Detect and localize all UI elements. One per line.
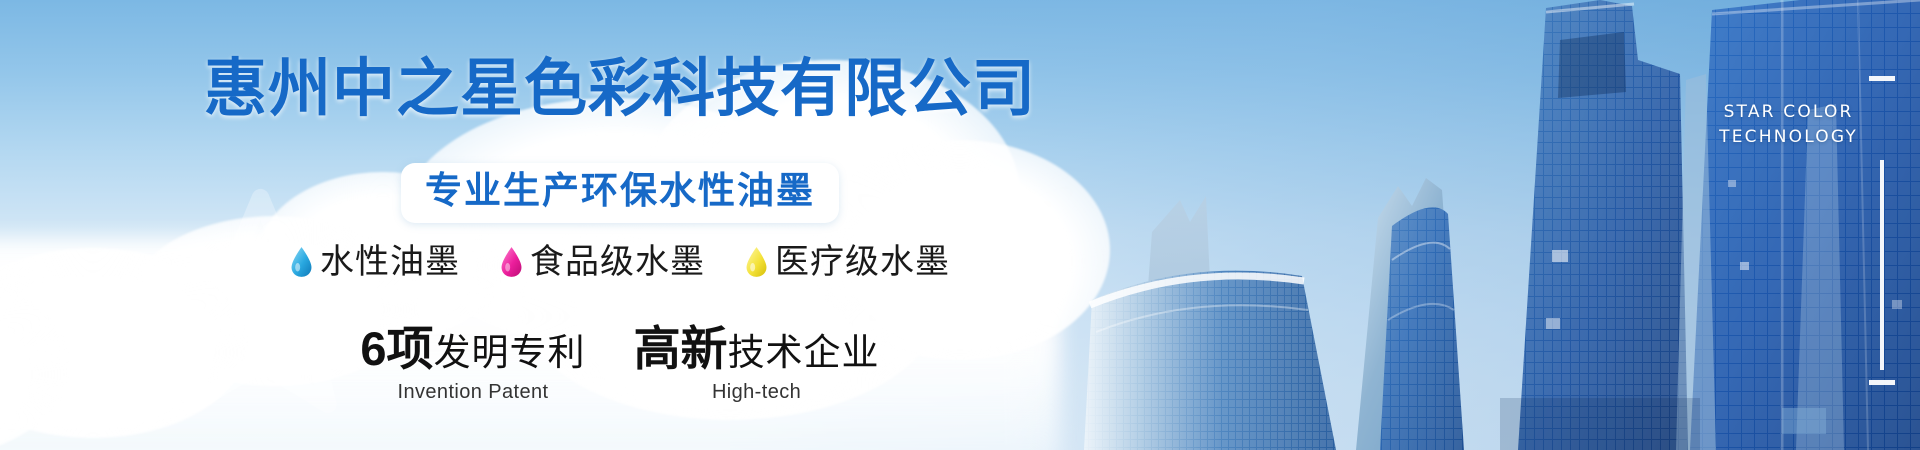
feature-item: 食品级水墨 <box>500 245 705 279</box>
feature-label: 医疗级水墨 <box>775 245 950 279</box>
brand-line-1: STAR COLOR <box>1719 100 1858 125</box>
corner-vertical-rule <box>1880 160 1884 370</box>
feature-list: 水性油墨 食品级水墨 <box>0 245 1240 279</box>
badge-chinese-text: 高新技术企业 <box>634 325 880 372</box>
water-drop-icon <box>290 246 313 278</box>
badge-rest-text: 发明专利 <box>434 334 586 371</box>
tagline-pill: 专业生产环保水性油墨 <box>401 163 839 223</box>
badge-strong-text: 6项 <box>360 325 433 372</box>
badge-english-text: High-tech <box>634 381 880 404</box>
badge-chinese-text: 6项发明专利 <box>360 325 585 372</box>
badge-strong-text: 高新 <box>634 325 728 372</box>
badge-rest-text: 技术企业 <box>728 334 880 371</box>
badge-english-text: Invention Patent <box>360 381 585 404</box>
brand-line-2: TECHNOLOGY <box>1719 125 1858 150</box>
corner-mark-top <box>1869 76 1895 81</box>
feature-label: 食品级水墨 <box>530 245 705 279</box>
feature-label: 水性油墨 <box>320 245 460 279</box>
promotional-banner: Star Color <box>0 0 1920 450</box>
tagline-pill-wrapper: 专业生产环保水性油墨 <box>0 163 1240 223</box>
credential-badges: 6项发明专利 Invention Patent 高新技术企业 High-tech <box>0 325 1240 404</box>
corner-mark-bottom <box>1869 380 1895 385</box>
banner-content: 惠州中之星色彩科技有限公司 专业生产环保水性油墨 <box>0 0 1240 450</box>
feature-item: 医疗级水墨 <box>745 245 950 279</box>
water-drop-icon <box>745 246 768 278</box>
badge-high-tech: 高新技术企业 High-tech <box>634 325 880 404</box>
water-drop-icon <box>500 246 523 278</box>
badge-invention-patent: 6项发明专利 Invention Patent <box>360 325 585 404</box>
feature-item: 水性油墨 <box>290 245 460 279</box>
star-color-technology-brand: STAR COLOR TECHNOLOGY <box>1719 100 1858 150</box>
company-headline: 惠州中之星色彩科技有限公司 <box>0 58 1240 121</box>
